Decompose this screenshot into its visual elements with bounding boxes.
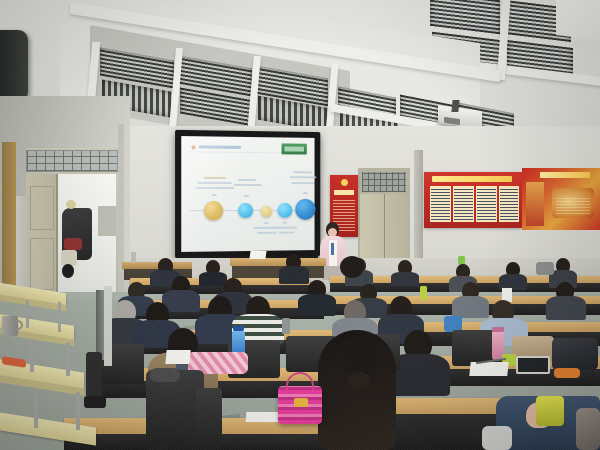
paper-handout (165, 350, 190, 364)
ceiling-light-panel (556, 0, 600, 41)
handbag-clasp (294, 398, 308, 407)
projection-screen (175, 130, 320, 258)
orange-strap (554, 368, 580, 378)
desk-leg (76, 392, 80, 430)
green-water-bottle (420, 286, 427, 300)
black-backpack (552, 338, 598, 370)
bag-far-shelf (536, 262, 554, 275)
lecture-hall-photo (0, 0, 600, 450)
bottle-cap (233, 326, 244, 331)
chair-edge (86, 352, 102, 398)
speaker-box (0, 30, 28, 102)
poster-column-text (454, 188, 473, 220)
desk-leg (34, 390, 38, 428)
front-table-top (122, 262, 192, 269)
seat-hinge (150, 368, 180, 382)
shoe-foreground (482, 426, 512, 450)
poster-column-text (500, 188, 518, 220)
banner-headline (540, 172, 590, 178)
presenter-lanyard (331, 243, 334, 255)
banner-graphic-torch (526, 182, 544, 226)
bottle-on-front-table (131, 252, 136, 263)
aisle-rail (104, 286, 112, 366)
attendee-body (391, 272, 419, 286)
yellow-container (536, 396, 564, 426)
front-table-top (230, 258, 326, 266)
scooter-helmet (66, 200, 76, 209)
screen-surface (181, 136, 314, 252)
poster-banner-title (432, 176, 512, 182)
wall-pillar (414, 150, 423, 268)
bag-foreground (576, 408, 600, 450)
banner-body-text (556, 196, 590, 214)
bottle-cap (492, 327, 504, 332)
attendee-head (334, 336, 380, 376)
scooter-seat (64, 238, 82, 250)
seat-back-foreground (196, 388, 222, 450)
poster-emblem (341, 179, 348, 186)
desk-leg (66, 342, 70, 376)
door-panel-detail (30, 238, 54, 290)
poster-column-text (477, 188, 496, 220)
paper-handout (246, 412, 281, 422)
screen-glare (181, 136, 314, 252)
front-table-front (232, 266, 324, 278)
papers-on-table (249, 251, 266, 259)
front-door-seam (384, 194, 385, 264)
chair-base (84, 396, 106, 408)
attendee-foreground-left-edge (340, 256, 364, 278)
projector-mount (451, 100, 459, 112)
attendee-body (279, 266, 309, 284)
corridor-wall-panel (98, 206, 116, 236)
attendee-body (452, 296, 489, 318)
thermos-cup (282, 318, 290, 334)
tablet-device (516, 356, 550, 374)
attendee-body (199, 272, 227, 286)
hair-bun (348, 372, 370, 388)
poster-title (334, 190, 354, 195)
paper-handout (469, 362, 508, 376)
desk-leg (30, 340, 34, 372)
attendee-body (298, 294, 336, 316)
front-door-transom (362, 172, 406, 192)
desk-leg (58, 302, 61, 332)
transom-window (26, 150, 118, 172)
door-panel-detail (30, 186, 54, 230)
scooter-wheel (62, 264, 74, 278)
desk-leg (26, 300, 29, 328)
attendee-body (546, 296, 586, 320)
poster-column-text (431, 188, 450, 220)
